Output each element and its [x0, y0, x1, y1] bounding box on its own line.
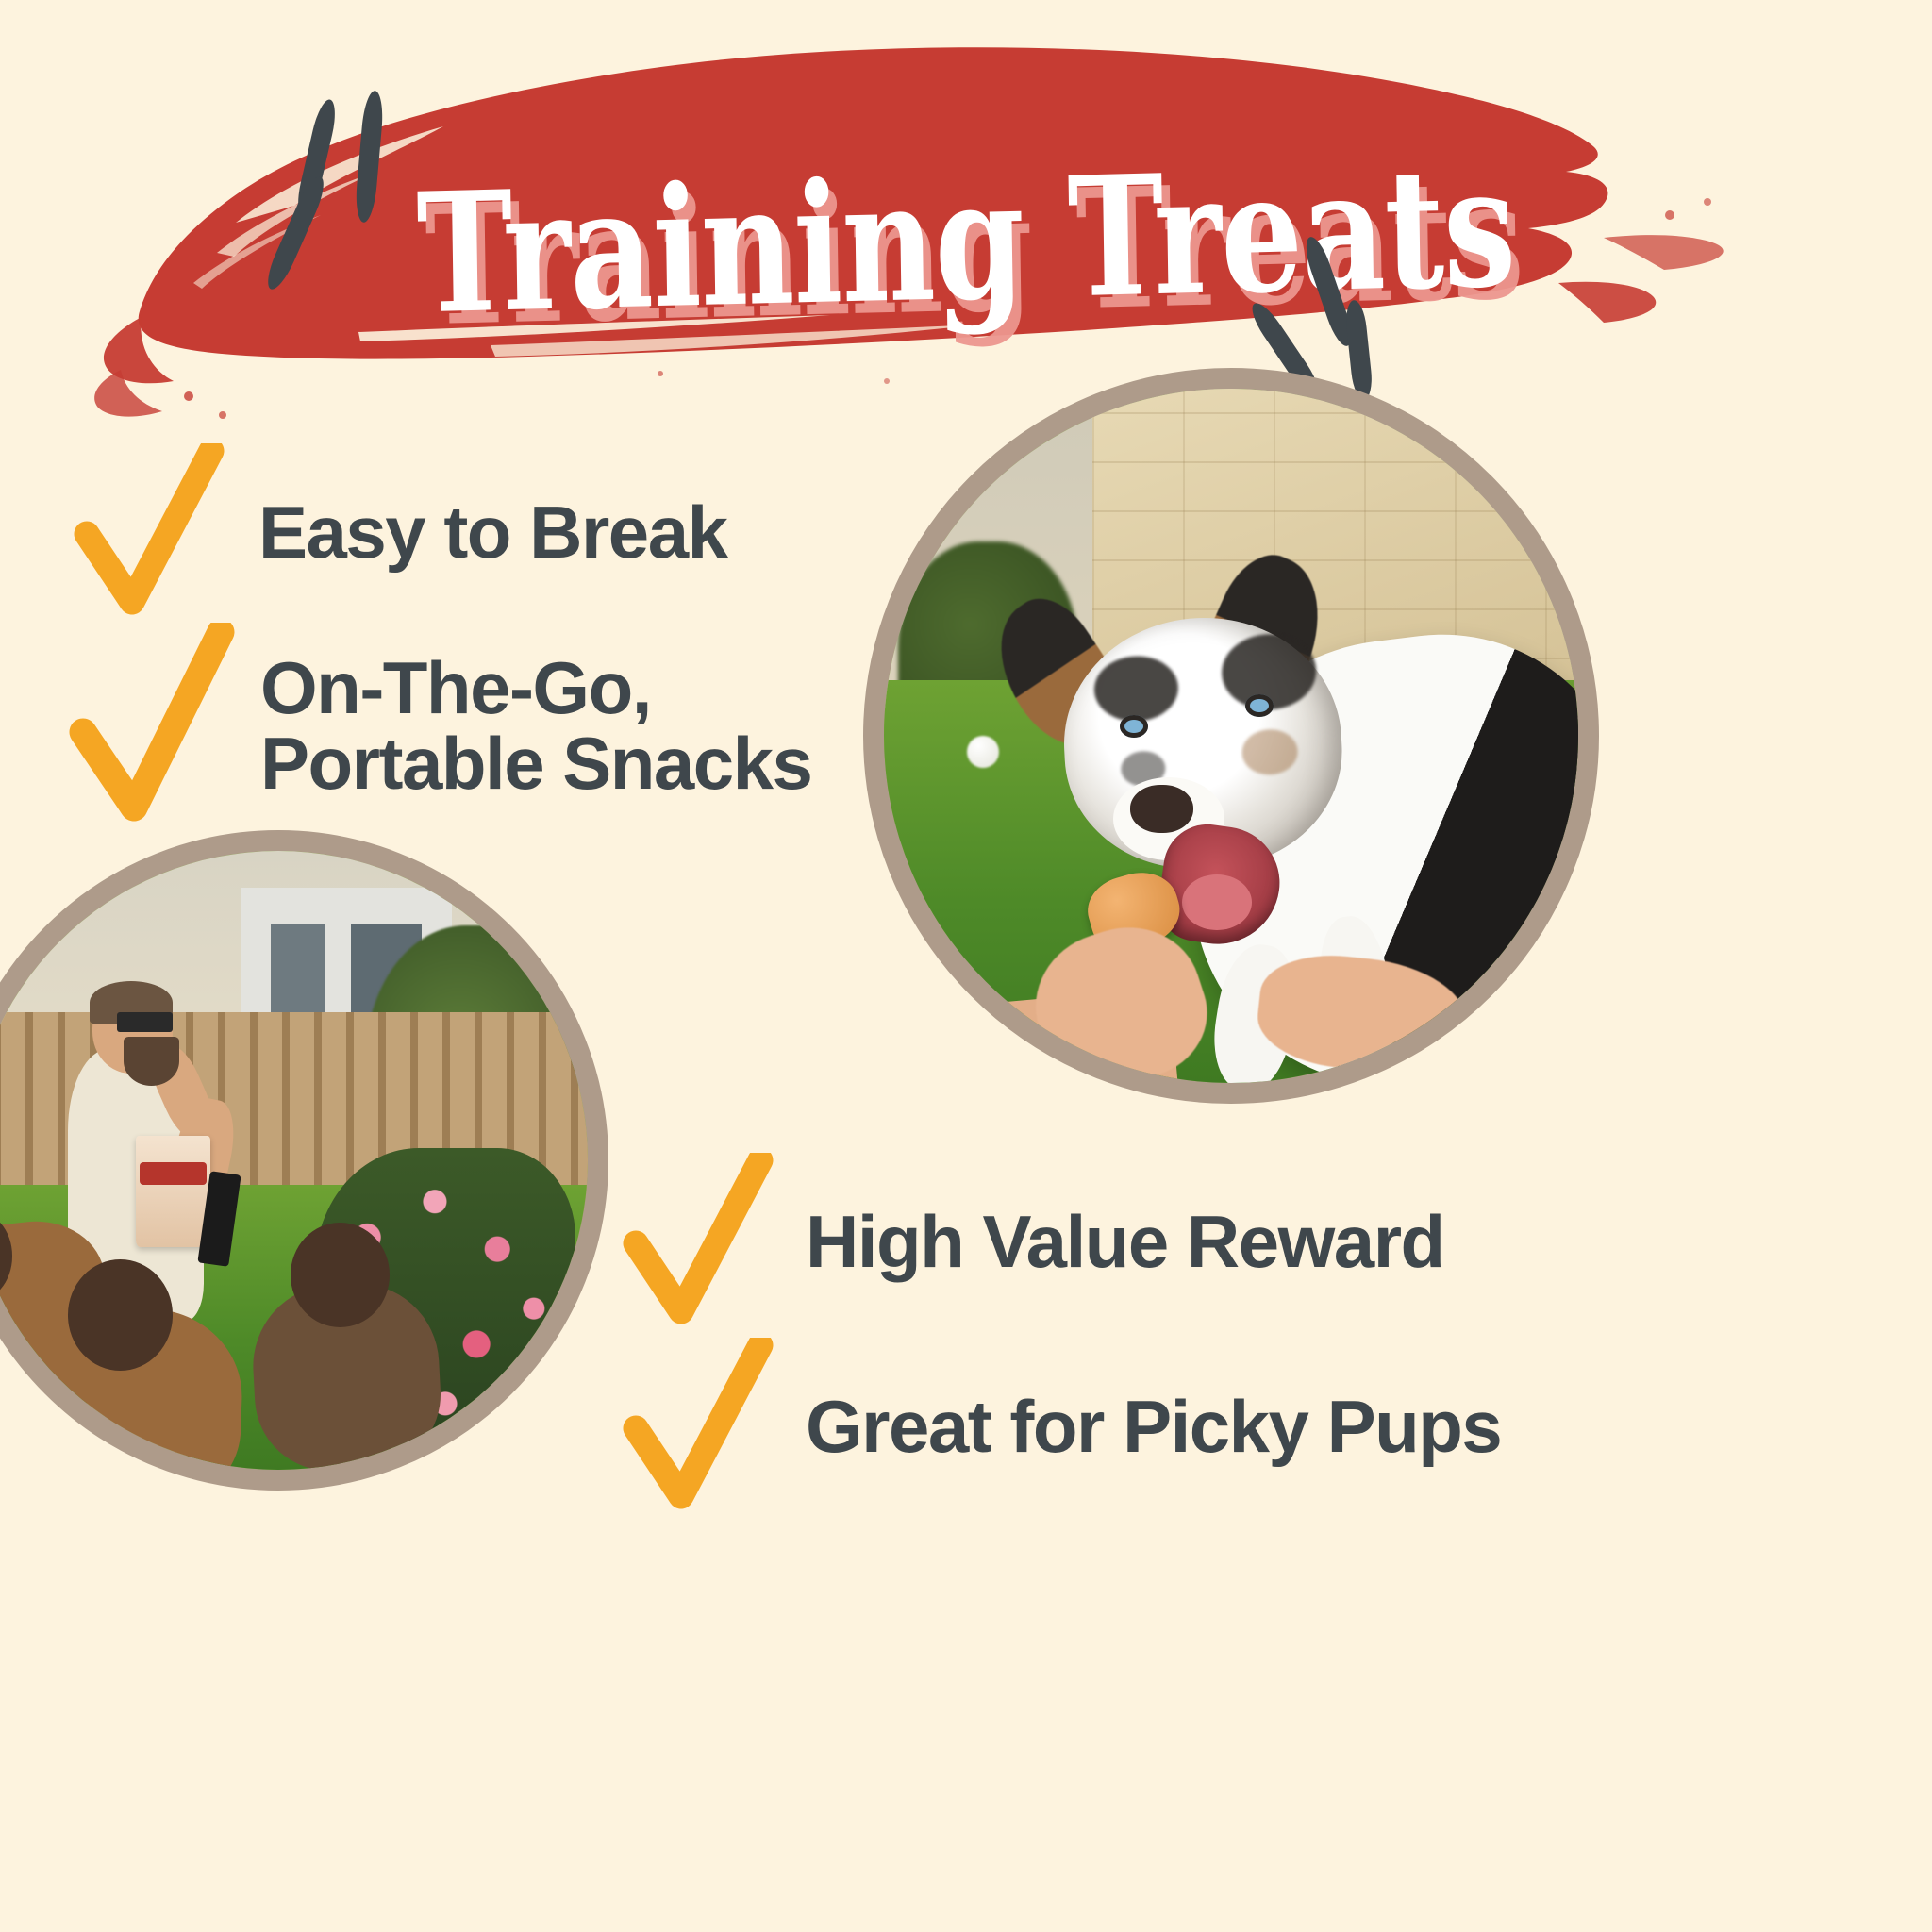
check-icon	[74, 443, 225, 623]
dog-eye	[1120, 715, 1148, 738]
page-title: Training Treats	[211, 140, 1721, 341]
feature-item-on-the-go: On-The-Go, Portable Snacks	[68, 623, 811, 830]
dog-right-head	[291, 1223, 390, 1328]
feature-item-high-value-reward: High Value Reward	[623, 1153, 1444, 1332]
man-beard	[124, 1037, 179, 1086]
sunglasses-icon	[117, 1012, 173, 1032]
check-icon	[623, 1153, 774, 1332]
feature-label: Easy to Break	[258, 495, 726, 571]
feature-label: High Value Reward	[806, 1205, 1444, 1280]
check-icon	[623, 1338, 774, 1517]
bag-brand-label	[140, 1162, 207, 1185]
feature-label: Great for Picky Pups	[806, 1390, 1501, 1465]
treat-bag-farm-to	[136, 1136, 210, 1247]
dog-tongue	[1182, 874, 1252, 930]
dog-eye	[1245, 694, 1274, 717]
photo-dog-catching-treat	[863, 368, 1599, 1104]
feature-item-easy-to-break: Easy to Break	[74, 443, 726, 623]
dog-center-head	[68, 1259, 174, 1371]
poster-canvas: Training Treats Easy to Break On-The-Go,…	[0, 0, 1932, 1932]
feature-label: On-The-Go, Portable Snacks	[260, 651, 811, 801]
photo-man-training-dogs	[0, 830, 608, 1491]
feature-item-picky-pups: Great for Picky Pups	[623, 1338, 1501, 1517]
dog-nose	[1130, 785, 1192, 834]
check-icon	[68, 623, 236, 830]
